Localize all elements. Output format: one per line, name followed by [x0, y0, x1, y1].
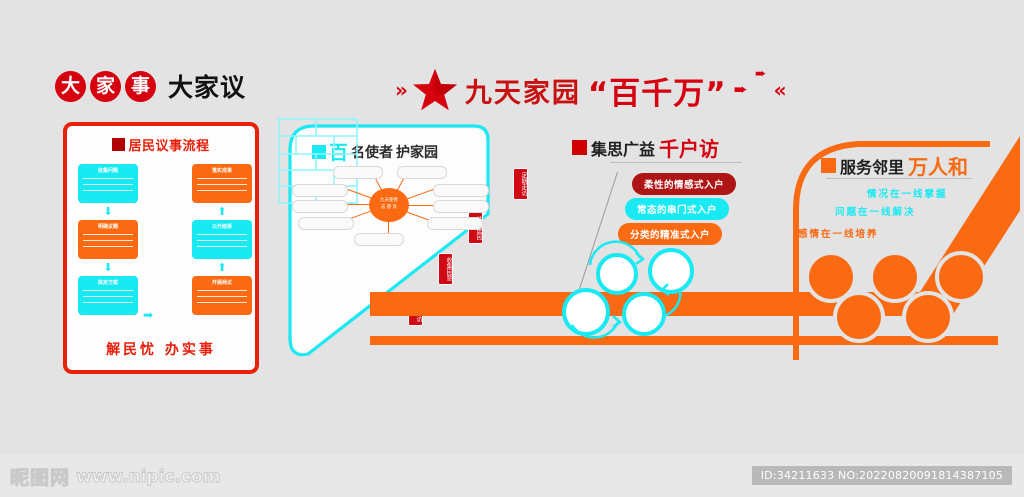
- flow-box-label: 公开结果: [192, 223, 252, 230]
- arrow-up-icon: ⬆: [192, 262, 252, 273]
- brand-char-3: 事: [125, 71, 156, 102]
- red-panel-title: 居民议事流程: [67, 135, 255, 154]
- hub-line-1: 九天使者: [380, 198, 398, 205]
- brand-char-1: 大: [55, 71, 86, 102]
- brand-plain-text: 大家议: [168, 68, 246, 104]
- flow-box: 落实成果: [192, 164, 252, 203]
- title-underline: [610, 162, 742, 163]
- top-title-red: “百千万”: [588, 68, 727, 113]
- flow-arrows-1: ⬇ ⬆: [78, 203, 252, 220]
- red-panel-title-text: 居民议事流程: [128, 135, 209, 154]
- thousand-households-title: 集思广益 千户访: [572, 133, 719, 162]
- top-title-black: 九天家园: [465, 71, 581, 110]
- slogan-line: 情况在一线掌握: [867, 186, 948, 200]
- slogan-line: 问题在一线解决: [835, 204, 916, 218]
- square-bullet-icon: [572, 140, 587, 155]
- flow-box-lines: [197, 234, 247, 252]
- slogan-line: 感情在一线培养: [798, 226, 879, 240]
- mindmap-node: [433, 200, 489, 213]
- mindmap-hub: 九天使者 志 愿 队: [369, 188, 409, 222]
- footer-bar: 昵图网 www.nipic.com ID:34211633 NO:2022082…: [0, 455, 1024, 497]
- flow-box-lines: [83, 290, 133, 308]
- flow-row-2: 明确议题 公开结果: [78, 220, 252, 259]
- flow-box-label: 落实成果: [192, 167, 252, 174]
- arrow-down-icon: ⬇: [78, 206, 138, 217]
- watermark-cn: 昵图网: [10, 463, 70, 490]
- bird-icon: ➨: [734, 80, 748, 100]
- flow-box-label: 拟定方案: [78, 279, 138, 286]
- flow-box-lines: [83, 178, 133, 196]
- mindmap-node: [397, 166, 447, 179]
- circle-chain: [795, 245, 995, 350]
- mindmap-node: [292, 184, 348, 197]
- flow-row-1: 收集问题 落实成果: [78, 164, 252, 203]
- top-title: » 九天家园 “百千万” ➨ ➨ «: [395, 66, 784, 114]
- resident-process-panel: 居民议事流程 收集问题 落实成果 ⬇ ⬆ 明确议题: [63, 122, 259, 374]
- mindmap-node: [333, 166, 383, 179]
- flow-box-lines: [83, 234, 133, 252]
- flow-box: 拟定方案: [78, 276, 138, 315]
- id-badge: ID:34211633 NO:20220820091814387105: [752, 466, 1012, 485]
- mindmap-node: [427, 217, 483, 230]
- visit-pill: 柔性的情感式入户: [632, 173, 736, 195]
- mindmap-node: [433, 184, 489, 197]
- arrow-up-icon: ⬆: [192, 206, 252, 217]
- flow-box: 明确议题: [78, 220, 138, 259]
- watermark: 昵图网 www.nipic.com: [10, 463, 220, 490]
- poster-canvas: 大 家 事 大家议 » 九天家园 “百千万” ➨ ➨ « 居民议事流程 收集问题: [0, 0, 1024, 455]
- mindmap-node: [292, 200, 348, 213]
- square-bullet-icon: [821, 158, 836, 173]
- brand-char-2: 家: [90, 71, 121, 102]
- square-bullet-icon: [112, 138, 125, 151]
- right-title-orange: 万人和: [908, 151, 968, 180]
- chevron-left-icon: «: [774, 78, 784, 102]
- bird-icon-small: ➨: [755, 66, 767, 82]
- title-underline: [826, 178, 972, 179]
- flow-box-label: 明确议题: [78, 223, 138, 230]
- chevron-right-icon: »: [395, 78, 405, 102]
- flow-box-lines: [197, 290, 247, 308]
- flow-row-3: 拟定方案 开展商议: [78, 276, 252, 315]
- brand-logo: 大 家 事 大家议: [55, 68, 246, 104]
- hub-line-2: 志 愿 队: [381, 205, 397, 212]
- mid-title-red: 千户访: [659, 133, 719, 162]
- visit-pill: 常态的串门式入户: [625, 198, 729, 220]
- arrow-right-icon: ➡: [143, 308, 153, 322]
- serve-neighborhood-title: 服务邻里 万人和: [821, 151, 968, 180]
- red-star-icon: [412, 67, 458, 113]
- red-panel-footer: 解民忧 办实事: [67, 339, 255, 359]
- flow-box: 公开结果: [192, 220, 252, 259]
- arrow-down-icon: ⬇: [78, 262, 138, 273]
- ring-arrows: [552, 240, 702, 340]
- flow-box: 收集问题: [78, 164, 138, 203]
- flow-box-label: 收集问题: [78, 167, 138, 174]
- mindmap-node: [298, 217, 354, 230]
- watermark-url: www.nipic.com: [76, 467, 220, 487]
- flow-arrows-2: ⬇ ⬆: [78, 259, 252, 276]
- flow-box: 开展商议: [192, 276, 252, 315]
- flow-box-lines: [197, 178, 247, 196]
- right-title-black: 服务邻里: [840, 154, 904, 178]
- mindmap-node: [354, 233, 404, 246]
- process-flowchart: 收集问题 落实成果 ⬇ ⬆ 明确议题 公开结果: [78, 164, 252, 315]
- mid-title-black: 集思广益: [591, 136, 655, 160]
- flow-box-label: 开展商议: [192, 279, 252, 286]
